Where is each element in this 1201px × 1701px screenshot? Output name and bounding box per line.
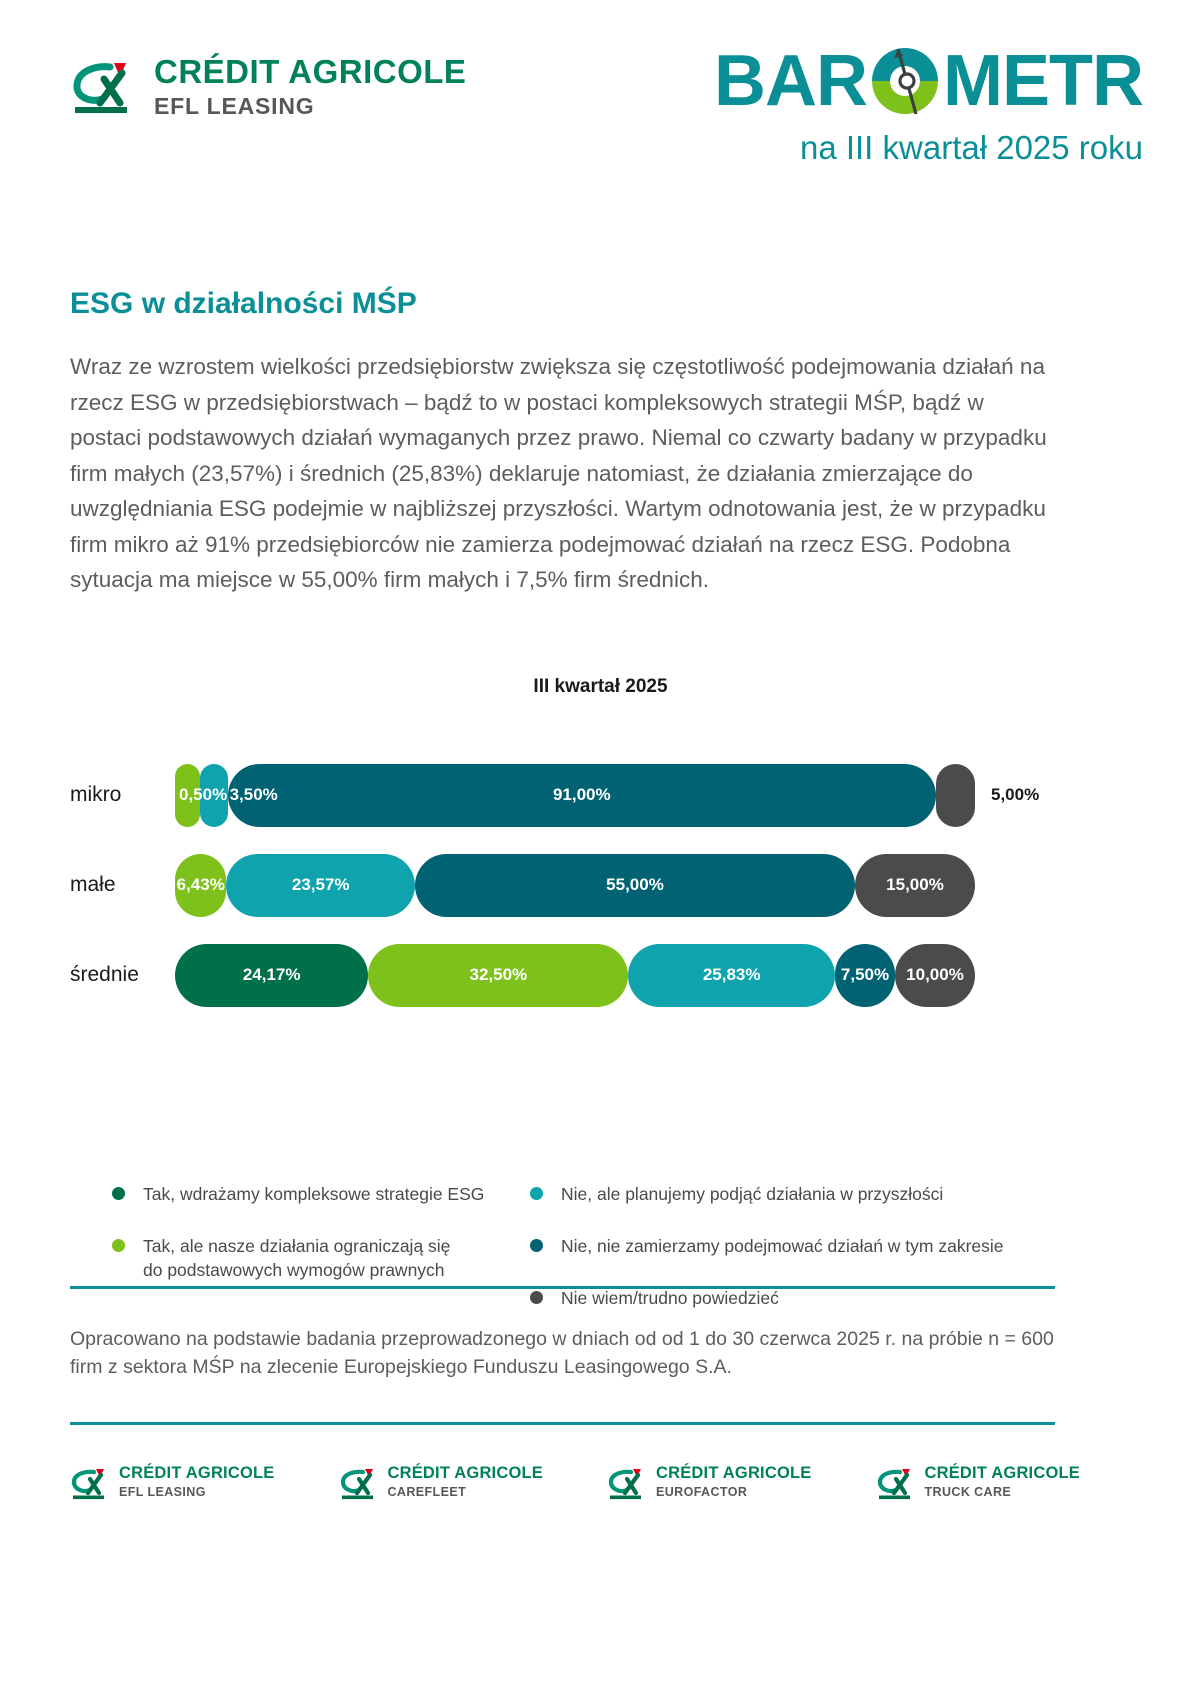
bar-segment: 6,43% [175, 854, 226, 917]
bar-segment-value: 10,00% [906, 965, 964, 985]
footnote-text: Opracowano na podstawie badania przeprow… [70, 1325, 1055, 1381]
bar-track: 15,00%55,00%23,57%6,43% [175, 854, 975, 917]
brand-subname: EFL LEASING [154, 95, 466, 118]
divider-top [70, 1286, 1055, 1289]
bar-track: 5,00%91,00%3,50%0,50% [175, 764, 975, 827]
bar-segment-value: 0,50% [179, 785, 227, 805]
chart-title: III kwartał 2025 [0, 676, 1201, 698]
barometr-subtitle: na III kwartał 2025 roku [673, 128, 1143, 168]
legend-item-label: Tak, wdrażamy kompleksowe strategie ESG [143, 1182, 484, 1206]
legend-column-left: Tak, wdrażamy kompleksowe strategie ESGT… [112, 1182, 532, 1310]
barometr-text-part1: BAR [714, 45, 867, 117]
legend-item[interactable]: Nie, ale planujemy podjąć działania w pr… [530, 1182, 1050, 1206]
infographic-page: CRÉDIT AGRICOLE EFL LEASING BAR [0, 0, 1201, 1701]
legend-item-label: Nie, ale planujemy podjąć działania w pr… [561, 1182, 943, 1206]
bar-segment: 10,00% [895, 944, 975, 1007]
divider-bottom [70, 1422, 1055, 1425]
bar-segment-value: 7,50% [841, 965, 889, 985]
footer-logo-name: CRÉDIT AGRICOLE [656, 1465, 811, 1482]
bar-category-label: średnie [70, 963, 175, 987]
brand-name: CRÉDIT AGRICOLE [154, 55, 466, 88]
bar-row: średnie10,00%7,50%25,83%32,50%24,17% [70, 930, 1080, 1020]
legend-item[interactable]: Nie, nie zamierzamy podejmować działań w… [530, 1234, 1050, 1258]
legend-item-label: Nie, nie zamierzamy podejmować działań w… [561, 1234, 1004, 1258]
bar-segment: 0,50% [175, 764, 200, 827]
bar-segment-value: 24,17% [243, 965, 301, 985]
bar-segment-value-outside: 5,00% [991, 764, 1039, 827]
legend-column-right: Nie, ale planujemy podjąć działania w pr… [530, 1182, 1050, 1338]
bar-category-label: mikro [70, 783, 175, 807]
legend-swatch-icon [530, 1239, 543, 1252]
credit-agricole-mark-icon [607, 1467, 647, 1500]
bar-segment: 7,50% [835, 944, 895, 1007]
bar-segment: 91,00% [228, 764, 937, 827]
legend-item[interactable]: Tak, wdrażamy kompleksowe strategie ESG [112, 1182, 532, 1206]
footer-logo-name: CRÉDIT AGRICOLE [388, 1465, 543, 1482]
page-title: ESG w działalności MŚP [70, 287, 417, 321]
bar-row: małe15,00%55,00%23,57%6,43% [70, 840, 1080, 930]
bar-segment-value: 55,00% [606, 875, 664, 895]
footer-logo: CRÉDIT AGRICOLEEUROFACTOR [607, 1465, 811, 1500]
barometr-logo: BAR METR na III kwartał 2025 roku [673, 42, 1143, 168]
intro-paragraph: Wraz ze wzrostem wielkości przedsiębiors… [70, 349, 1055, 598]
bar-segment: 32,50% [368, 944, 628, 1007]
bar-segment-value: 6,43% [177, 875, 225, 895]
page-header: CRÉDIT AGRICOLE EFL LEASING BAR [0, 0, 1201, 215]
bar-segment-value: 91,00% [553, 785, 611, 805]
footer-logo-sub: TRUCK CARE [925, 1486, 1080, 1499]
footer-logo-sub: EFL LEASING [119, 1486, 274, 1499]
legend-item[interactable]: Tak, ale nasze działania ograniczają się… [112, 1234, 532, 1282]
credit-agricole-logo: CRÉDIT AGRICOLE EFL LEASING [70, 55, 466, 118]
bar-category-label: małe [70, 873, 175, 897]
bar-row: mikro5,00%91,00%3,50%0,50% [70, 750, 1080, 840]
credit-agricole-mark-icon [70, 59, 138, 115]
bar-segment: 25,83% [628, 944, 835, 1007]
footer-logo: CRÉDIT AGRICOLECAREFLEET [339, 1465, 543, 1500]
bar-segment: 15,00% [855, 854, 975, 917]
bar-segment-value: 15,00% [886, 875, 944, 895]
footer-logo-name: CRÉDIT AGRICOLE [119, 1465, 274, 1482]
credit-agricole-mark-icon [339, 1467, 379, 1500]
legend-swatch-icon [112, 1239, 125, 1252]
footer-logo-sub: CAREFLEET [388, 1486, 543, 1499]
bar-segment: 24,17% [175, 944, 368, 1007]
bar-segment: 55,00% [415, 854, 855, 917]
bar-segment-value: 32,50% [470, 965, 528, 985]
stacked-bar-chart: mikro5,00%91,00%3,50%0,50%małe15,00%55,0… [70, 750, 1080, 1020]
legend-item-label: Tak, ale nasze działania ograniczają się… [143, 1234, 450, 1282]
barometr-wordmark: BAR METR [673, 42, 1143, 120]
footer-logo: CRÉDIT AGRICOLEEFL LEASING [70, 1465, 274, 1500]
barometer-gauge-icon [868, 44, 942, 118]
bar-segment-value: 25,83% [703, 965, 761, 985]
footer-logo-name: CRÉDIT AGRICOLE [925, 1465, 1080, 1482]
credit-agricole-mark-icon [876, 1467, 916, 1500]
legend-item-label: Nie wiem/trudno powiedzieć [561, 1286, 779, 1310]
footer-logo-row: CRÉDIT AGRICOLEEFL LEASING CRÉDIT AGRICO… [70, 1465, 1080, 1500]
bar-track: 10,00%7,50%25,83%32,50%24,17% [175, 944, 975, 1007]
bar-segment-value: 3,50% [230, 785, 278, 805]
bar-segment-value: 23,57% [292, 875, 350, 895]
legend-swatch-icon [112, 1187, 125, 1200]
legend-swatch-icon [530, 1291, 543, 1304]
credit-agricole-mark-icon [70, 1467, 110, 1500]
barometr-text-part2: METR [943, 45, 1143, 117]
footer-logo: CRÉDIT AGRICOLETRUCK CARE [876, 1465, 1080, 1500]
footer-logo-sub: EUROFACTOR [656, 1486, 811, 1499]
bar-segment [936, 764, 975, 827]
bar-segment: 23,57% [226, 854, 415, 917]
legend-item[interactable]: Nie wiem/trudno powiedzieć [530, 1286, 1050, 1310]
legend-swatch-icon [530, 1187, 543, 1200]
